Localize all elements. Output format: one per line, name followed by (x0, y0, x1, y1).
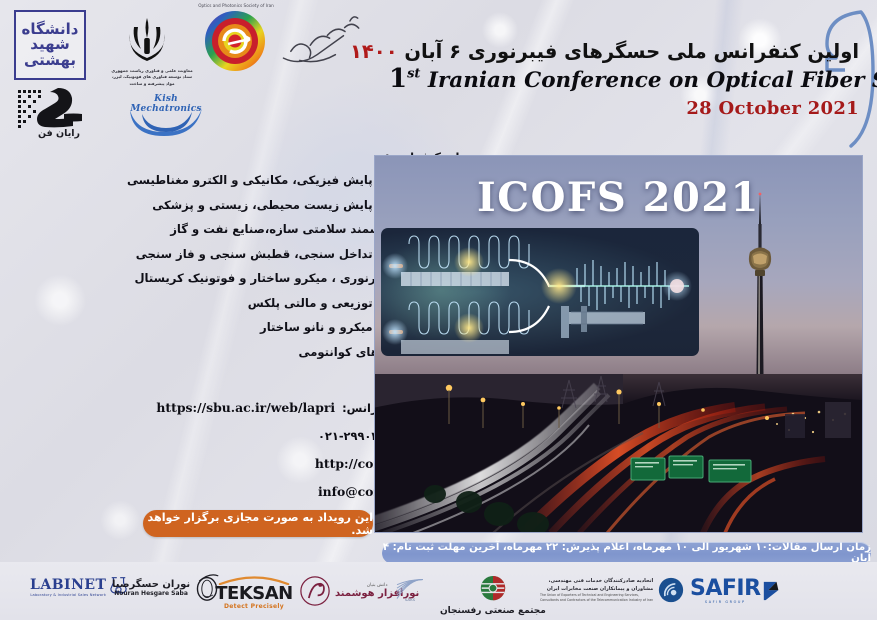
icofs-title: ICOFS 2021 (375, 174, 862, 221)
hero-image: ICOFS 2021 (374, 155, 863, 533)
rafsanjan-emblem-icon (473, 574, 513, 604)
teksan-tagline: Detect Precisely (210, 603, 298, 610)
safir-name: SAFIR (690, 578, 761, 600)
highway-light-trails-photo (375, 374, 862, 532)
rafsanjan-name-fa: مجتمع صنعتی رفسنجان (440, 606, 546, 616)
labinet-name: LABINET (30, 577, 106, 593)
title-ordinal-number: 1 (389, 64, 407, 94)
saks-fan-icon: SAKS (395, 576, 425, 602)
iran-emblem-caption: معاونت علمی و فناوری ریاست جمهوریستاد تو… (108, 68, 196, 86)
sponsor-safir: SAFIR SAFIR GROUP (690, 578, 782, 604)
noorafzar-seal-icon (300, 576, 330, 606)
header-logo-row: دانشگاهشهیدبهشتی معاونت علمی و فناوری ری… (0, 0, 420, 148)
title-persian: اولین کنفرانس ملی حسگرهای فیبرنوری ۶ آبا… (389, 40, 859, 64)
sponsor-nouran-hesgare-saba: نوران حسگرصبا Nouran Hesgare Saba (112, 574, 220, 602)
title-english-text: Iranian Conference on Optical Fiber Sens… (428, 68, 877, 93)
sbu-logo-glyph: دانشگاهشهیدبهشتی (22, 22, 79, 69)
sponsor-rafsanjan-industrial-complex: مجتمع صنعتی رفسنجان (440, 574, 546, 616)
sponsor-footer: LABINET Laboratory & Industrial Sales Ne… (0, 562, 877, 620)
labinet-tagline: Laboratory & Industrial Sales Network (30, 593, 106, 597)
telecom-union-name-fa: اتحادیه صادرکنندگان خدمات فنی مهندسی، مش… (540, 578, 653, 593)
conference-title-block: اولین کنفرانس ملی حسگرهای فیبرنوری ۶ آبا… (389, 40, 859, 119)
title-date: 28 October 2021 (389, 98, 859, 119)
conference-poster: دانشگاهشهیدبهشتی معاونت علمی و فناوری ری… (0, 0, 877, 620)
safir-mark-icon (762, 580, 782, 602)
title-persian-year: ۱۴۰۰ (350, 40, 398, 63)
sponsor-teksan: TEKSAN Detect Precisely (210, 575, 298, 610)
sponsor-saks: SAKS (395, 576, 425, 602)
saks-label: SAKS (405, 597, 416, 602)
title-ordinal-suffix: st (407, 67, 420, 82)
shahid-beheshti-university-logo: دانشگاهشهیدبهشتی (14, 10, 86, 80)
sponsor-telecom-union: اتحادیه صادرکنندگان خدمات فنی مهندسی، مش… (540, 577, 684, 603)
telecom-union-icon (658, 577, 684, 603)
title-ordinal: 1st (389, 64, 420, 94)
nouran-name-en: Nouran Hesgare Saba (112, 590, 190, 597)
kish-mechatronics-logo: Kish Mechatronics (118, 92, 214, 136)
title-english: 1st Iranian Conference on Optical Fiber … (389, 65, 859, 94)
telecom-union-name-en: The Union of Exporters of Technical and … (540, 593, 653, 602)
iran-emblem-icon (118, 14, 176, 66)
rayan-fan-caption: رایان فن (16, 128, 102, 142)
title-persian-text: اولین کنفرانس ملی حسگرهای فیبرنوری ۶ آبا… (398, 40, 859, 63)
submission-deadlines-bar: زمان ارسال مقالات:۱۰ شهریور الی ۱۰ مهرما… (382, 542, 871, 564)
nouran-name-fa: نوران حسگرصبا (112, 579, 190, 590)
contact-address-value[interactable]: https://sbu.ac.ir/web/lapri (156, 400, 335, 415)
opsi-ring-label: Optics and Photonics Society of Iran (198, 4, 274, 80)
virtual-event-notice: این رویداد به صورت مجازی برگزار خواهد شد… (143, 510, 373, 537)
fiber-interferometer-graphic (381, 228, 699, 356)
teksan-name: TEKSAN (210, 585, 298, 603)
